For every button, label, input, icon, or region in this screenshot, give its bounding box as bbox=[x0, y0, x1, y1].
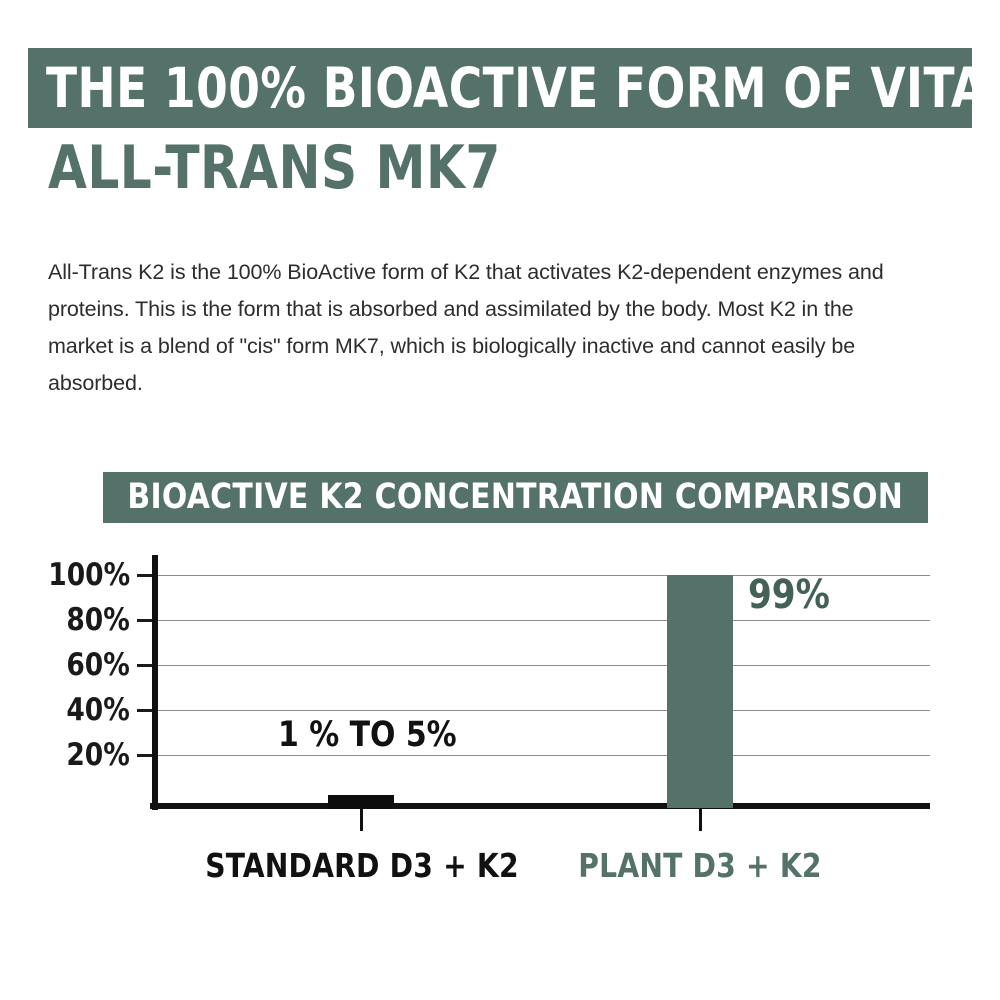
bar-value-label-plant: 99% bbox=[748, 575, 830, 615]
y-axis-tick-labels: 100% 80% 60% 40% 20% bbox=[40, 0, 130, 1000]
gridline-60 bbox=[158, 665, 930, 666]
y-tick-label-100: 100% bbox=[48, 560, 130, 591]
x-axis-line bbox=[150, 803, 930, 809]
y-axis-line bbox=[152, 555, 158, 810]
bar-standard-d3-k2 bbox=[328, 795, 394, 809]
x-tickmark-standard bbox=[360, 809, 363, 831]
gridline-20 bbox=[158, 755, 930, 756]
gridline-40 bbox=[158, 710, 930, 711]
bar-value-label-standard: 1 % TO 5% bbox=[278, 718, 457, 753]
x-category-label-plant: PLANT D3 + K2 bbox=[539, 849, 862, 883]
y-tick-label-40: 40% bbox=[67, 695, 130, 726]
gridline-80 bbox=[158, 620, 930, 621]
y-tick-label-20: 20% bbox=[67, 740, 130, 771]
x-tickmark-plant bbox=[699, 809, 702, 831]
bar-plant-d3-k2 bbox=[667, 575, 733, 808]
bar-chart: 100% 80% 60% 40% 20% 1 % TO 5% 99% STAND… bbox=[0, 0, 1000, 1000]
x-category-label-standard: STANDARD D3 + K2 bbox=[201, 849, 524, 883]
y-tick-label-80: 80% bbox=[67, 605, 130, 636]
y-tick-label-60: 60% bbox=[67, 650, 130, 681]
